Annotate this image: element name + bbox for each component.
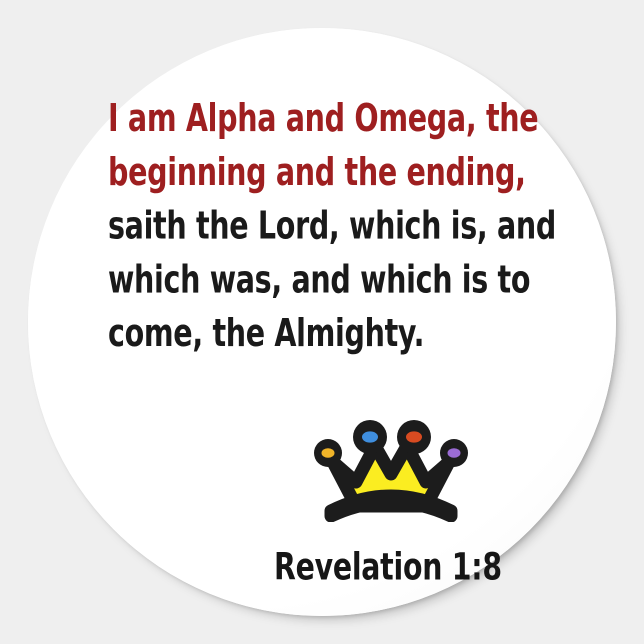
- crown-jewel-far-right: [448, 448, 461, 458]
- crown-jewel-right: [406, 431, 422, 442]
- crown-body-group: [331, 446, 451, 516]
- crown-base-band: [331, 496, 451, 516]
- crown-jewel-far-left: [322, 448, 335, 458]
- verse-red-phrase: I am Alpha and Omega, the beginning and …: [108, 96, 538, 195]
- verse-black-phrase: saith the Lord, which is, and which was,…: [108, 204, 556, 356]
- verse-text: I am Alpha and Omega, the beginning and …: [108, 92, 560, 361]
- crown-icon: [300, 410, 482, 522]
- verse-reference: Revelation 1:8: [274, 544, 502, 588]
- crown-jewel-left: [362, 431, 378, 442]
- sticker-stage: I am Alpha and Omega, the beginning and …: [0, 0, 644, 644]
- crown-jewels-group: [314, 420, 468, 467]
